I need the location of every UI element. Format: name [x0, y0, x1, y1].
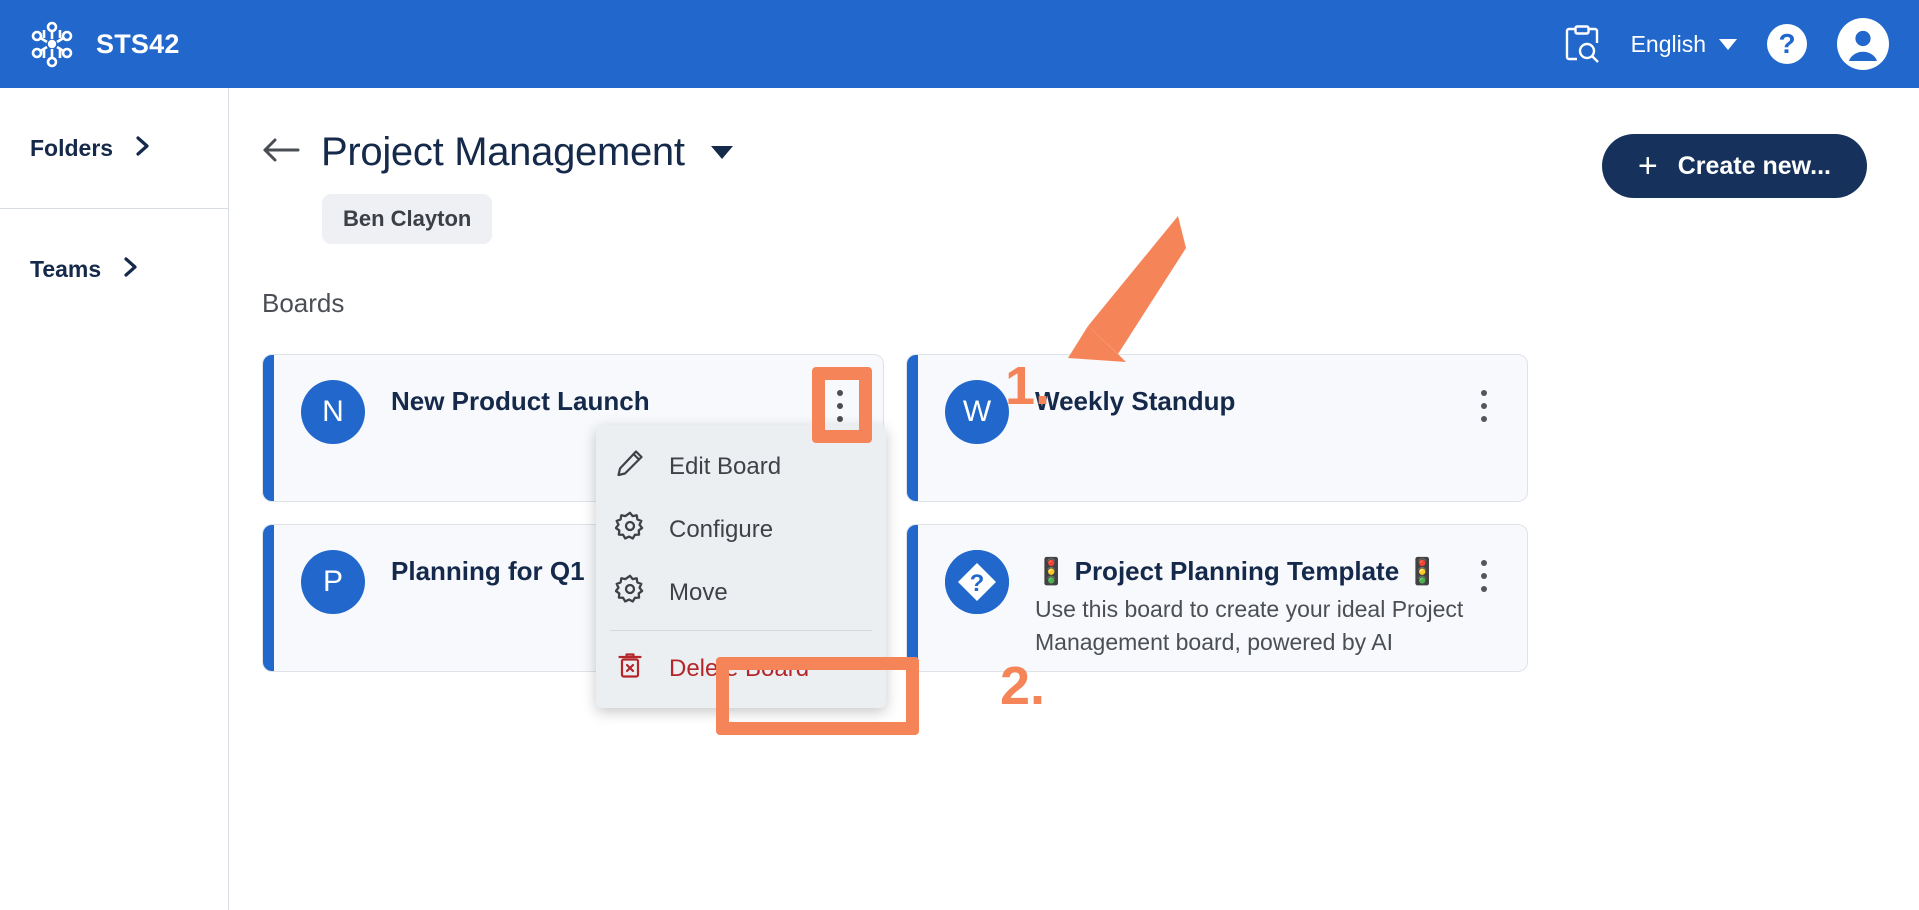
annotation-step-2: 2. [1000, 655, 1045, 717]
context-menu-divider [610, 630, 872, 631]
board-avatar: N [301, 380, 365, 444]
sidebar-item-teams[interactable]: Teams [0, 209, 228, 329]
card-text: 🚦 Project Planning Template 🚦 Use this b… [1035, 550, 1465, 660]
question-diamond-icon: ? [945, 550, 1009, 614]
board-menu-kebab-icon[interactable] [1467, 386, 1501, 426]
language-label: English [1631, 31, 1706, 58]
clipboard-search-icon[interactable] [1563, 24, 1601, 64]
arrow-left-icon[interactable] [261, 134, 301, 171]
left-sidebar: Folders Teams [0, 88, 229, 910]
gear-icon [615, 574, 645, 611]
chevron-right-icon [121, 254, 141, 285]
context-menu-item-move[interactable]: Move [596, 561, 886, 624]
board-title: 🚦 Project Planning Template 🚦 [1035, 556, 1465, 587]
main-content: Project Management Ben Clayton Boards + … [230, 88, 1919, 910]
card-text: New Product Launch [391, 380, 650, 417]
sidebar-item-label: Teams [30, 256, 101, 283]
board-card-project-planning-template[interactable]: ? 🚦 Project Planning Template 🚦 Use this… [906, 524, 1528, 672]
board-menu-kebab-icon[interactable] [1467, 556, 1501, 596]
user-avatar-icon[interactable] [1837, 18, 1889, 70]
svg-text:?: ? [970, 570, 985, 597]
annotation-step-1: 1. [1005, 355, 1050, 417]
boards-section-label: Boards [230, 244, 1919, 319]
plus-icon: + [1638, 149, 1658, 183]
card-body: ? 🚦 Project Planning Template 🚦 Use this… [907, 525, 1527, 660]
card-accent-bar [907, 525, 918, 671]
card-text: Weekly Standup [1035, 380, 1235, 417]
caret-down-icon[interactable] [711, 146, 733, 159]
sidebar-item-label: Folders [30, 135, 113, 162]
trash-delete-icon [615, 650, 645, 687]
context-menu-item-edit-board[interactable]: Edit Board [596, 435, 886, 498]
sidebar-item-folders[interactable]: Folders [0, 88, 228, 208]
board-title: Weekly Standup [1035, 386, 1235, 417]
create-new-button[interactable]: + Create new... [1602, 134, 1867, 198]
board-title: Planning for Q1 [391, 556, 585, 587]
context-menu-item-delete-board[interactable]: Delete Board [596, 637, 886, 700]
board-description: Use this board to create your ideal Proj… [1035, 593, 1465, 660]
card-accent-bar [263, 525, 274, 671]
context-menu-item-label: Configure [669, 516, 773, 544]
help-question-icon[interactable]: ? [1767, 24, 1807, 64]
context-menu-item-configure[interactable]: Configure [596, 498, 886, 561]
circuit-network-logo-icon [26, 18, 78, 70]
context-menu-item-label: Edit Board [669, 453, 781, 481]
card-accent-bar [263, 355, 274, 501]
board-card-weekly-standup[interactable]: W Weekly Standup [906, 354, 1528, 502]
top-header-bar: STS42 English ? [0, 0, 1919, 88]
card-accent-bar [907, 355, 918, 501]
header-actions: English ? [1563, 18, 1919, 70]
board-menu-kebab-icon[interactable] [823, 386, 857, 426]
chevron-right-icon [133, 133, 153, 164]
context-menu-item-label: Move [669, 579, 728, 607]
page-title: Project Management [321, 130, 685, 175]
language-selector[interactable]: English [1631, 31, 1737, 58]
card-text: Planning for Q1 [391, 550, 585, 587]
board-title: New Product Launch [391, 386, 650, 417]
chevron-down-icon [1719, 39, 1737, 50]
card-body: W Weekly Standup [907, 355, 1527, 444]
boards-grid: N New Product Launch W Weekly Standup [262, 354, 1887, 672]
gear-icon [615, 511, 645, 548]
board-avatar: W [945, 380, 1009, 444]
board-context-menu: Edit Board Configure Move [596, 425, 886, 708]
pencil-icon [615, 448, 645, 485]
brand-name: STS42 [96, 29, 180, 60]
brand-area[interactable]: STS42 [0, 18, 180, 70]
context-menu-item-label: Delete Board [669, 655, 809, 683]
board-avatar: P [301, 550, 365, 614]
create-new-label: Create new... [1678, 152, 1831, 181]
owner-chip[interactable]: Ben Clayton [322, 194, 492, 244]
